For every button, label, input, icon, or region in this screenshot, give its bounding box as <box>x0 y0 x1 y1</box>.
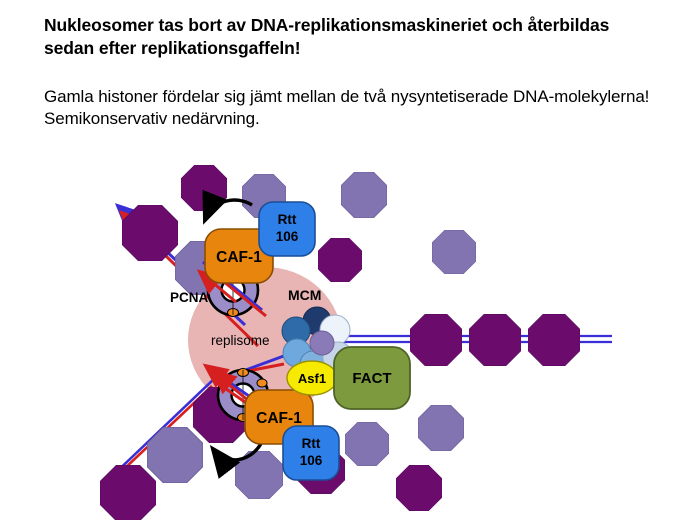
pcna-label: PCNA <box>170 290 209 305</box>
nucleosome-lower-arm-old-2 <box>100 465 156 520</box>
asf1-label: Asf1 <box>298 371 326 386</box>
text-block: Nukleosomer tas bort av DNA-replikations… <box>44 14 654 130</box>
rtt106-top-label-line1: Rtt <box>278 212 297 227</box>
free-nucleosome-10 <box>345 422 389 466</box>
replisome-label: replisome <box>211 333 270 348</box>
free-nucleosome-6 <box>418 405 464 451</box>
page-subtitle: Gamla histoner fördelar sig jämt mellan … <box>44 60 654 131</box>
mcm-label: MCM <box>288 287 321 303</box>
nucleosome-lower-arm-new <box>147 427 203 483</box>
replication-fork-diagram: CAF-1 Rtt 106 CAF-1 Rtt 106 <box>0 150 694 520</box>
rtt106-bottom-label-line1: Rtt <box>302 436 321 451</box>
slide-canvas: Nukleosomer tas bort av DNA-replikations… <box>0 0 694 520</box>
nucleosome-right-2 <box>469 314 521 366</box>
fact-label: FACT <box>352 370 391 387</box>
rtt106-bottom-chaperone[interactable]: Rtt 106 <box>283 426 339 480</box>
rtt106-bottom-label-line2: 106 <box>300 453 323 468</box>
fact-complex[interactable]: FACT <box>334 347 410 409</box>
caf1-bottom-label: CAF-1 <box>256 410 302 427</box>
rtt106-top-chaperone[interactable]: Rtt 106 <box>259 202 315 256</box>
caf1-top-label: CAF-1 <box>216 249 262 266</box>
asf1-chaperone[interactable]: Asf1 <box>287 361 337 395</box>
free-nucleosome-5 <box>432 230 476 274</box>
rtt106-top-label-line2: 106 <box>276 229 299 244</box>
nucleosome-upper-arm-old <box>122 205 178 261</box>
free-nucleosome-7 <box>396 465 442 511</box>
nucleosome-right-1 <box>410 314 462 366</box>
free-nucleosome-4 <box>318 238 362 282</box>
nucleosome-right-3 <box>528 314 580 366</box>
page-title: Nukleosomer tas bort av DNA-replikations… <box>44 14 654 60</box>
free-nucleosome-3 <box>341 172 387 218</box>
